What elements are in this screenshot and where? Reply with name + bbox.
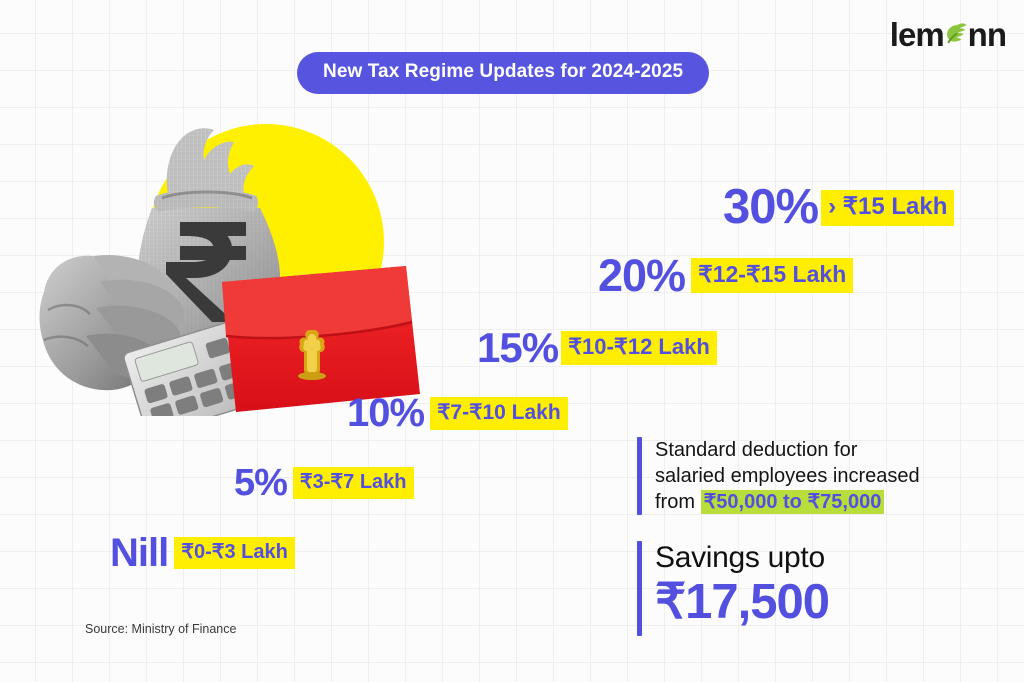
savings-amount: ₹17,500 — [655, 575, 829, 630]
collage-artwork — [34, 96, 434, 416]
tax-slab-range: ₹7-₹10 Lakh — [430, 397, 568, 430]
accent-bar — [637, 437, 642, 515]
standard-deduction-note: Standard deduction for salaried employee… — [637, 437, 989, 515]
savings-note: Savings upto ₹17,500 — [637, 541, 977, 636]
deduction-line-1: Standard deduction for — [655, 439, 857, 461]
savings-text: Savings upto ₹17,500 — [655, 541, 829, 636]
tax-rate-value: 30% — [723, 183, 818, 232]
tax-rate-value: 15% — [477, 327, 558, 369]
tax-slab-row: 15% ₹10-₹12 Lakh — [477, 327, 717, 369]
tax-rate-value: 5% — [234, 464, 287, 502]
tax-rate-value: 10% — [347, 393, 424, 433]
tax-rate-value: Nill — [110, 533, 168, 573]
tax-slab-range: ₹12-₹15 Lakh — [691, 258, 853, 293]
tax-slab-row: 20% ₹12-₹15 Lakh — [598, 253, 853, 298]
tax-slab-row: 30% › ₹15 Lakh — [723, 183, 954, 232]
logo-text-after: nn — [968, 16, 1006, 54]
source-caption: Source: Ministry of Finance — [85, 622, 236, 636]
tax-rate-value: 20% — [598, 253, 685, 298]
lemon-leaf-icon — [943, 20, 969, 50]
accent-bar — [637, 541, 642, 636]
tax-slab-row: 10% ₹7-₹10 Lakh — [347, 393, 568, 433]
savings-label: Savings upto — [655, 541, 829, 575]
tax-slab-range: ₹3-₹7 Lakh — [293, 467, 414, 499]
standard-deduction-text: Standard deduction for salaried employee… — [655, 437, 920, 515]
hero-illustration — [34, 96, 434, 416]
deduction-line-2: salaried employees increased — [655, 465, 920, 487]
infographic-canvas: lem nn New Tax Regime Updates for 2024-2… — [0, 0, 1024, 682]
tax-slab-range: › ₹15 Lakh — [821, 190, 954, 226]
page-title: New Tax Regime Updates for 2024-2025 — [297, 52, 709, 94]
deduction-line-3-prefix: from — [655, 491, 701, 513]
brand-logo[interactable]: lem nn — [890, 16, 1006, 54]
deduction-amount-highlight: ₹50,000 to ₹75,000 — [701, 490, 885, 514]
tax-slab-row: 5% ₹3-₹7 Lakh — [234, 464, 414, 502]
tax-slab-range: ₹0-₹3 Lakh — [174, 537, 295, 569]
logo-text-before: lem — [890, 16, 944, 54]
tax-slab-range: ₹10-₹12 Lakh — [561, 331, 717, 365]
tax-slab-row: Nill ₹0-₹3 Lakh — [110, 533, 295, 573]
